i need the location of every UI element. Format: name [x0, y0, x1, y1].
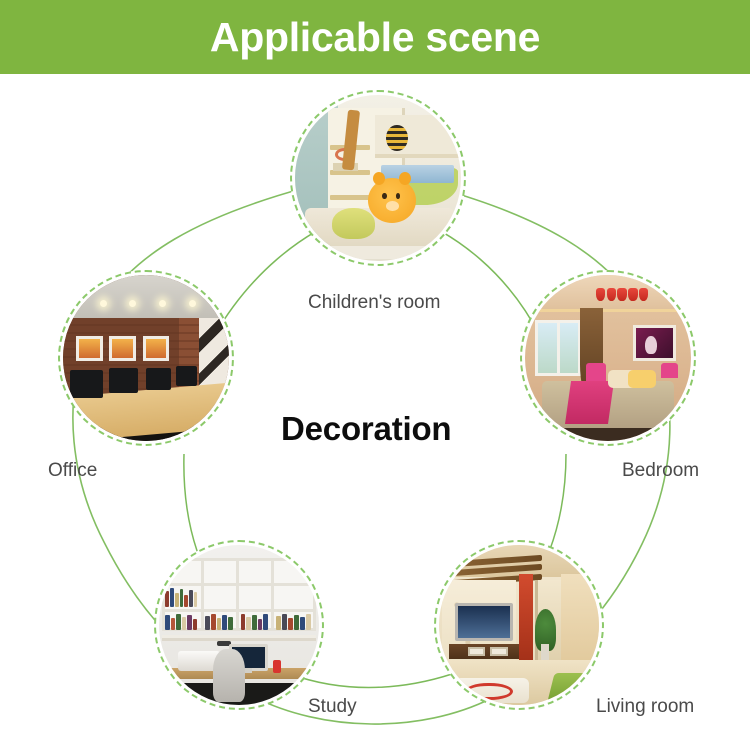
photo-bedroom	[525, 275, 691, 441]
photo-study	[159, 545, 319, 705]
photo-childrens-room	[295, 95, 461, 261]
node-childrens-room[interactable]	[290, 90, 466, 266]
decoration-diagram: Children's room	[0, 74, 750, 750]
label-childrens-room: Children's room	[308, 292, 440, 314]
label-study: Study	[308, 696, 357, 718]
label-office: Office	[48, 460, 97, 482]
applicable-scene-page: Applicable scene	[0, 0, 750, 750]
photo-office	[63, 275, 229, 441]
label-living-room: Living room	[596, 696, 694, 718]
photo-living-room	[439, 545, 599, 705]
page-header: Applicable scene	[0, 0, 750, 74]
node-living-room[interactable]	[434, 540, 604, 710]
node-bedroom[interactable]	[520, 270, 696, 446]
label-bedroom: Bedroom	[622, 460, 699, 482]
center-title: Decoration	[281, 410, 451, 448]
page-title: Applicable scene	[210, 17, 540, 58]
node-office[interactable]	[58, 270, 234, 446]
node-study[interactable]	[154, 540, 324, 710]
